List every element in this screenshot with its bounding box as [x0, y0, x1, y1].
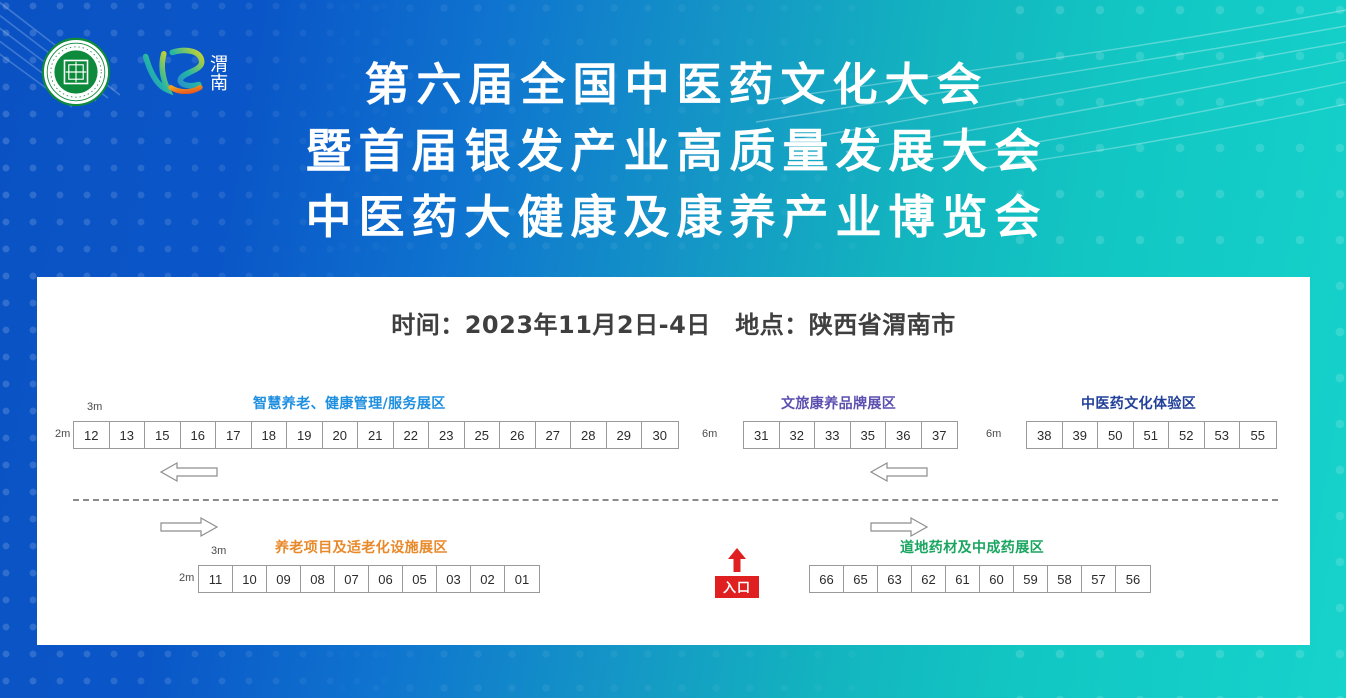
- booth-cell[interactable]: 35: [851, 422, 887, 448]
- dim-width-bottom-left: 3m: [211, 545, 226, 557]
- booth-row-authentic-herbs: 66656362616059585756: [809, 565, 1151, 593]
- booth-cell[interactable]: 08: [301, 566, 335, 592]
- title-line-2: 暨首届银发产业高质量发展大会: [0, 118, 1346, 184]
- booth-cell[interactable]: 57: [1082, 566, 1116, 592]
- booth-cell[interactable]: 39: [1063, 422, 1099, 448]
- booth-cell[interactable]: 06: [369, 566, 403, 592]
- bottom-left-arrow-icon: [159, 516, 219, 538]
- booth-cell[interactable]: 09: [267, 566, 301, 592]
- booth-cell[interactable]: 16: [181, 422, 217, 448]
- poster-canvas: 渭 南 第六届全国中医药文化大会 暨首届银发产业高质量发展大会 中医药大健康及康…: [0, 0, 1346, 698]
- booth-cell[interactable]: 31: [744, 422, 780, 448]
- dim-depth-bottom-left: 2m: [179, 572, 194, 584]
- booth-cell[interactable]: 10: [233, 566, 267, 592]
- aisle-divider: [73, 499, 1278, 501]
- title-block: 第六届全国中医药文化大会 暨首届银发产业高质量发展大会 中医药大健康及康养产业博…: [0, 52, 1346, 250]
- zone-title-elderly-facilities: 养老项目及适老化设施展区: [275, 537, 448, 557]
- booth-row-tcm-experience: 38395051525355: [1026, 421, 1277, 449]
- booth-cell[interactable]: 19: [287, 422, 323, 448]
- booth-cell[interactable]: 52: [1169, 422, 1205, 448]
- booth-cell[interactable]: 02: [471, 566, 505, 592]
- booth-cell[interactable]: 21: [358, 422, 394, 448]
- booth-cell[interactable]: 23: [429, 422, 465, 448]
- booth-cell[interactable]: 15: [145, 422, 181, 448]
- dim-width-top-left: 3m: [87, 401, 102, 413]
- booth-cell[interactable]: 30: [642, 422, 678, 448]
- booth-cell[interactable]: 13: [110, 422, 146, 448]
- booth-cell[interactable]: 03: [437, 566, 471, 592]
- booth-cell[interactable]: 32: [780, 422, 816, 448]
- booth-cell[interactable]: 51: [1134, 422, 1170, 448]
- booth-row-culture-tourism: 313233353637: [743, 421, 958, 449]
- entrance-marker[interactable]: 入口: [697, 547, 777, 598]
- zone-title-smart-elderly-care: 智慧养老、健康管理/服务展区: [253, 393, 446, 413]
- booth-cell[interactable]: 26: [500, 422, 536, 448]
- booth-cell[interactable]: 07: [335, 566, 369, 592]
- entrance-label: 入口: [715, 576, 759, 598]
- booth-cell[interactable]: 50: [1098, 422, 1134, 448]
- booth-row-smart-elderly-care: 1213151617181920212223252627282930: [73, 421, 679, 449]
- booth-cell[interactable]: 37: [922, 422, 958, 448]
- booth-cell[interactable]: 65: [844, 566, 878, 592]
- booth-cell[interactable]: 25: [465, 422, 501, 448]
- booth-cell[interactable]: 27: [536, 422, 572, 448]
- zone-title-culture-tourism: 文旅康养品牌展区: [781, 393, 896, 413]
- booth-cell[interactable]: 38: [1027, 422, 1063, 448]
- zone-title-tcm-experience: 中医药文化体验区: [1081, 393, 1196, 413]
- booth-cell[interactable]: 17: [216, 422, 252, 448]
- booth-cell[interactable]: 58: [1048, 566, 1082, 592]
- content-panel: 时间：2023年11月2日-4日 地点：陕西省渭南市 智慧养老、健康管理/服务展…: [37, 277, 1310, 645]
- booth-cell[interactable]: 59: [1014, 566, 1048, 592]
- booth-cell[interactable]: 62: [912, 566, 946, 592]
- booth-cell[interactable]: 18: [252, 422, 288, 448]
- booth-cell[interactable]: 22: [394, 422, 430, 448]
- booth-cell[interactable]: 33: [815, 422, 851, 448]
- booth-cell[interactable]: 01: [505, 566, 539, 592]
- booth-cell[interactable]: 66: [810, 566, 844, 592]
- booth-cell[interactable]: 29: [607, 422, 643, 448]
- booth-cell[interactable]: 20: [323, 422, 359, 448]
- top-left-arrow-icon: [159, 461, 219, 483]
- zone-title-authentic-herbs: 道地药材及中成药展区: [900, 537, 1044, 557]
- title-line-3: 中医药大健康及康养产业博览会: [0, 184, 1346, 250]
- booth-cell[interactable]: 63: [878, 566, 912, 592]
- poster-header: 渭 南 第六届全国中医药文化大会 暨首届银发产业高质量发展大会 中医药大健康及康…: [0, 0, 1346, 277]
- title-line-1: 第六届全国中医药文化大会: [0, 52, 1346, 118]
- booth-cell[interactable]: 56: [1116, 566, 1150, 592]
- booth-cell[interactable]: 28: [571, 422, 607, 448]
- booth-cell[interactable]: 36: [886, 422, 922, 448]
- booth-row-elderly-facilities: 11100908070605030201: [198, 565, 540, 593]
- entrance-arrow-icon: [726, 547, 748, 573]
- dim-depth-top-left: 2m: [55, 428, 70, 440]
- top-right-arrow-icon: [869, 461, 929, 483]
- booth-cell[interactable]: 11: [199, 566, 233, 592]
- bottom-right-arrow-icon: [869, 516, 929, 538]
- booth-cell[interactable]: 60: [980, 566, 1014, 592]
- dim-aisle-right: 6m: [986, 428, 1001, 440]
- floor-plan: 智慧养老、健康管理/服务展区 3m 2m 1213151617181920212…: [37, 277, 1310, 645]
- booth-cell[interactable]: 61: [946, 566, 980, 592]
- booth-cell[interactable]: 05: [403, 566, 437, 592]
- booth-cell[interactable]: 53: [1205, 422, 1241, 448]
- booth-cell[interactable]: 12: [74, 422, 110, 448]
- dim-aisle-left: 6m: [702, 428, 717, 440]
- booth-cell[interactable]: 55: [1240, 422, 1276, 448]
